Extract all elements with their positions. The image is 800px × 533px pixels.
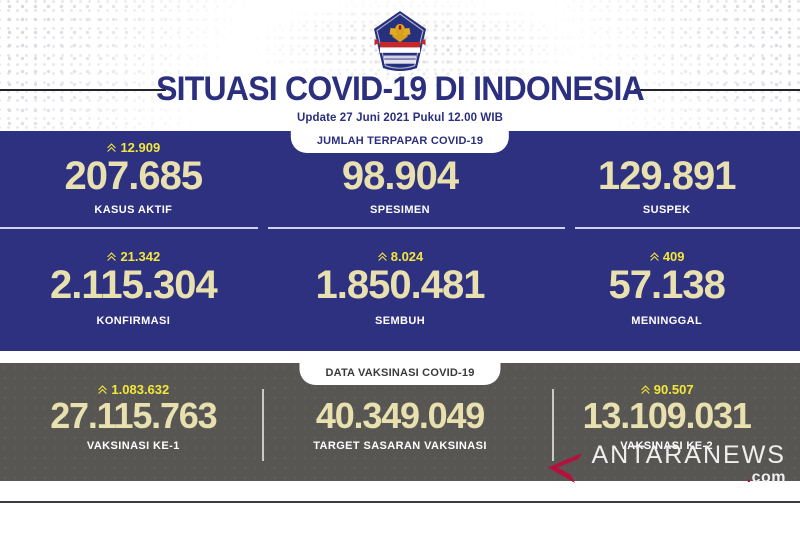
watermark-domain: .com bbox=[747, 470, 786, 486]
value-meninggal: 57.138 bbox=[533, 265, 800, 305]
label-suspek: SUSPEK bbox=[533, 204, 800, 216]
delta-suspek-placeholder bbox=[533, 141, 800, 154]
chevron-up-icon bbox=[640, 384, 651, 395]
covid-stats-section: JUMLAH TERPAPAR COVID-19 12.909 207.685 … bbox=[0, 131, 800, 351]
divider-segment-3 bbox=[575, 227, 800, 229]
label-meninggal: MENINGGAL bbox=[533, 315, 800, 327]
value-spesimen: 98.904 bbox=[267, 156, 534, 196]
delta-spesimen-placeholder bbox=[267, 141, 534, 154]
label-sembuh: SEMBUH bbox=[267, 315, 534, 327]
chevron-up-icon bbox=[649, 251, 660, 262]
header: SITUASI COVID-19 DI INDONESIA Update 27 … bbox=[0, 0, 800, 131]
value-konfirmasi: 2.115.304 bbox=[0, 265, 267, 305]
stat-cell-suspek: 129.891 SUSPEK bbox=[533, 141, 800, 216]
watermark-text: ANTARANEWS .com bbox=[591, 443, 786, 486]
value-vaksinasi-ke-2: 13.109.031 bbox=[533, 398, 800, 434]
chevron-up-icon bbox=[377, 251, 388, 262]
delta-value: 409 bbox=[663, 250, 685, 263]
label-spesimen: SPESIMEN bbox=[267, 204, 534, 216]
delta-value: 12.909 bbox=[120, 141, 160, 154]
chevron-up-icon bbox=[106, 142, 117, 153]
stat-cell-vaksinasi-ke-1: 1.083.632 27.115.763 VAKSINASI KE-1 bbox=[0, 383, 267, 452]
row-divider bbox=[0, 216, 800, 240]
label-kasus-aktif: KASUS AKTIF bbox=[0, 204, 267, 216]
chevron-up-icon bbox=[97, 384, 108, 395]
label-konfirmasi: KONFIRMASI bbox=[0, 315, 267, 327]
delta-konfirmasi: 21.342 bbox=[0, 250, 267, 263]
delta-meninggal: 409 bbox=[533, 250, 800, 263]
value-target-sasaran: 40.349.049 bbox=[267, 398, 534, 434]
value-kasus-aktif: 207.685 bbox=[0, 156, 267, 196]
page-title: SITUASI COVID-19 DI INDONESIA bbox=[24, 72, 776, 106]
label-vaksinasi-ke-1: VAKSINASI KE-1 bbox=[0, 440, 267, 452]
watermark-name: ANTARANEWS bbox=[591, 443, 786, 468]
divider-segment-2 bbox=[268, 227, 565, 229]
infographic-page: SITUASI COVID-19 DI INDONESIA Update 27 … bbox=[0, 0, 800, 533]
update-timestamp: Update 27 Juni 2021 Pukul 12.00 WIB bbox=[0, 112, 800, 124]
value-vaksinasi-ke-1: 27.115.763 bbox=[0, 398, 267, 434]
covid-stats-row-1: 12.909 207.685 KASUS AKTIF 98.904 SPESIM… bbox=[0, 131, 800, 216]
watermark-tld: com bbox=[752, 469, 786, 486]
stat-cell-target-sasaran: 40.349.049 TARGET SASARAN VAKSINASI bbox=[267, 383, 534, 452]
value-suspek: 129.891 bbox=[533, 156, 800, 196]
divider-segment-1 bbox=[0, 227, 258, 229]
antaranews-arrow-logo bbox=[545, 450, 585, 486]
delta-value: 8.024 bbox=[391, 250, 424, 263]
delta-value: 21.342 bbox=[120, 250, 160, 263]
footer-rule bbox=[0, 501, 800, 503]
delta-sembuh: 8.024 bbox=[267, 250, 534, 263]
stat-cell-spesimen: 98.904 SPESIMEN bbox=[267, 141, 534, 216]
chevron-up-icon bbox=[106, 251, 117, 262]
stat-cell-sembuh: 8.024 1.850.481 SEMBUH bbox=[267, 250, 534, 327]
section-gap bbox=[0, 351, 800, 363]
delta-kasus-aktif: 12.909 bbox=[0, 141, 267, 154]
antaranews-watermark: ANTARANEWS .com bbox=[545, 443, 786, 486]
footer: ANTARANEWS .com bbox=[0, 481, 800, 533]
stat-cell-konfirmasi: 21.342 2.115.304 KONFIRMASI bbox=[0, 250, 267, 327]
covid-stats-row-2: 21.342 2.115.304 KONFIRMASI 8.024 1.850.… bbox=[0, 240, 800, 327]
value-sembuh: 1.850.481 bbox=[267, 265, 534, 305]
label-target-sasaran: TARGET SASARAN VAKSINASI bbox=[267, 440, 534, 452]
satgas-covid19-garuda-emblem bbox=[372, 10, 428, 74]
stat-cell-meninggal: 409 57.138 MENINGGAL bbox=[533, 250, 800, 327]
stat-cell-kasus-aktif: 12.909 207.685 KASUS AKTIF bbox=[0, 141, 267, 216]
